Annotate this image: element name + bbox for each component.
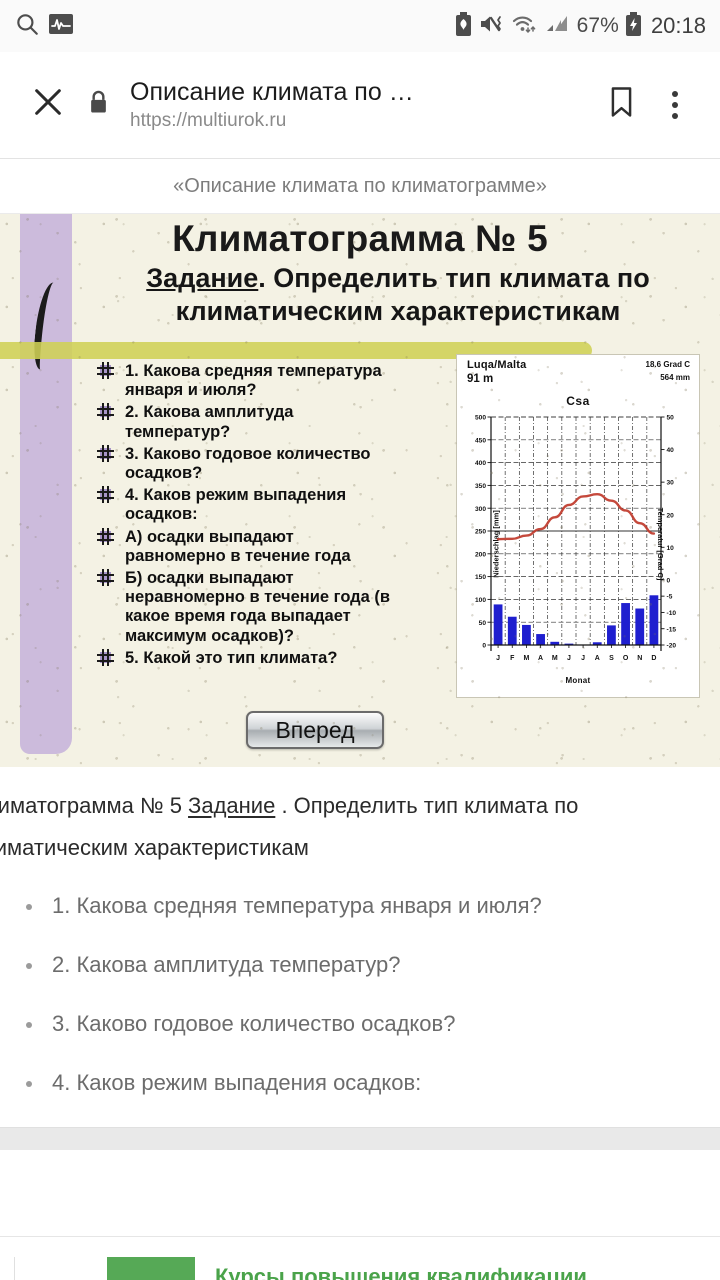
slide-question-item: 1. Какова средняя температура января и и… xyxy=(98,362,398,400)
svg-text:100: 100 xyxy=(475,597,486,604)
svg-text:0: 0 xyxy=(667,577,671,584)
svg-text:M: M xyxy=(552,655,558,662)
svg-text:40: 40 xyxy=(667,447,675,454)
svg-text:S: S xyxy=(609,655,614,662)
svg-text:0: 0 xyxy=(482,643,486,650)
list-item: 3. Каково годовое количество осадков? xyxy=(0,1009,720,1039)
svg-text:J: J xyxy=(496,655,500,662)
page-title: Описание климата по … xyxy=(130,77,590,107)
svg-text:-10: -10 xyxy=(667,610,677,617)
discount-badge: -60% xyxy=(107,1257,195,1280)
mute-vibrate-icon xyxy=(479,12,505,41)
hash-square-bullet-icon xyxy=(98,364,113,378)
svg-text:150: 150 xyxy=(475,574,486,581)
climate-chart-svg: 050100150200250300350400450500-20-15-10-… xyxy=(465,413,693,671)
svg-text:300: 300 xyxy=(475,506,486,513)
ad-left-rail xyxy=(14,1257,15,1280)
hash-square-bullet-icon xyxy=(98,651,113,665)
svg-text:250: 250 xyxy=(475,529,486,536)
hash-square-bullet-icon xyxy=(98,571,113,585)
overflow-menu-icon-dot3 xyxy=(672,113,678,119)
article-subheading: «Описание климата по климатограмме» xyxy=(0,159,720,213)
list-item: 2. Какова амплитуда температур? xyxy=(0,950,720,980)
address-bar[interactable]: Описание климата по … https://multiurok.… xyxy=(122,75,590,134)
slide-question-item: А) осадки выпадают равномерно в течение … xyxy=(98,528,398,566)
svg-text:-5: -5 xyxy=(667,594,673,601)
svg-text:50: 50 xyxy=(479,620,487,627)
hash-square-bullet-icon xyxy=(98,405,113,419)
lock-icon xyxy=(88,89,109,120)
overflow-menu-icon xyxy=(672,91,678,97)
article-lead-prefix: Климатограмма № 5 xyxy=(0,793,188,818)
status-bar-clock: 20:18 xyxy=(651,13,706,39)
hash-square-bullet-icon xyxy=(98,530,113,544)
svg-text:F: F xyxy=(510,655,515,662)
svg-text:J: J xyxy=(567,655,571,662)
svg-text:450: 450 xyxy=(475,437,486,444)
ad-banner[interactable]: -60% Курсы повышения квалификации xyxy=(0,1237,720,1280)
article-body: Климатограмма № 5 Задание . Определить т… xyxy=(0,767,720,1098)
svg-text:-20: -20 xyxy=(667,643,677,650)
list-item: 4. Каков режим выпадения осадков: xyxy=(0,1068,720,1098)
climate-diagram-header: Luqa/Malta 91 m 18.6 Grad C 564 mm xyxy=(457,355,699,393)
svg-text:D: D xyxy=(651,655,656,662)
slide-question-item: 2. Какова амплитуда температур? xyxy=(98,403,398,441)
svg-text:350: 350 xyxy=(475,483,486,490)
svg-text:A: A xyxy=(595,655,600,662)
article-lead-paragraph: Климатограмма № 5 Задание . Определить т… xyxy=(0,767,672,869)
climate-diagram: Luqa/Malta 91 m 18.6 Grad C 564 mm Csa N… xyxy=(456,354,700,698)
svg-text:-15: -15 xyxy=(667,626,677,633)
climate-station-altitude: 91 m xyxy=(467,372,691,386)
climate-mean-temperature: 18.6 Grad C xyxy=(646,360,690,369)
ad-title[interactable]: Курсы повышения квалификации xyxy=(215,1263,587,1280)
battery-percent-label: 67% xyxy=(577,14,619,38)
slide-image[interactable]: Климатограмма № 5 Задание. Определить ти… xyxy=(0,214,720,767)
forward-button[interactable]: Вперед xyxy=(246,711,384,749)
article-bullet-list: 1. Какова средняя температура января и и… xyxy=(0,891,720,1098)
scroll-shadow-strip xyxy=(0,1128,720,1150)
svg-text:50: 50 xyxy=(667,415,675,422)
activity-monitor-icon xyxy=(49,13,73,40)
battery-saver-icon xyxy=(455,12,472,41)
slide-question-text: Б) осадки выпадают неравномерно в течени… xyxy=(125,569,390,645)
site-security-indicator[interactable] xyxy=(74,89,122,120)
close-icon xyxy=(31,85,65,124)
svg-text:30: 30 xyxy=(667,480,675,487)
bookmark-icon xyxy=(608,86,635,123)
slide-subtitle: Задание. Определить тип климата по клима… xyxy=(90,262,706,328)
svg-text:400: 400 xyxy=(475,460,486,467)
slide-question-item: 5. Какой это тип климата? xyxy=(98,649,398,668)
bookmark-button[interactable] xyxy=(590,86,652,123)
status-bar-right-icons: 67% 20:18 xyxy=(455,12,706,41)
hash-square-bullet-icon xyxy=(98,488,113,502)
search-icon xyxy=(14,11,40,42)
svg-text:20: 20 xyxy=(667,512,675,519)
slide-question-text: А) осадки выпадают равномерно в течение … xyxy=(125,528,351,565)
svg-text:200: 200 xyxy=(475,551,486,558)
page-url: https://multiurok.ru xyxy=(130,108,590,134)
svg-text:O: O xyxy=(623,655,629,662)
battery-charging-icon xyxy=(626,12,641,41)
svg-text:M: M xyxy=(523,655,529,662)
climate-type-code: Csa xyxy=(457,394,699,408)
climate-annual-precipitation: 564 mm xyxy=(660,373,690,382)
slide-question-text: 2. Какова амплитуда температур? xyxy=(125,403,293,440)
status-bar-left-icons xyxy=(14,11,73,42)
svg-text:N: N xyxy=(637,655,642,662)
climate-plot-area: Niederschlag [mm] Temperatur [Grad C] 05… xyxy=(465,413,693,675)
svg-text:J: J xyxy=(581,655,585,662)
status-bar: 67% 20:18 xyxy=(0,0,720,52)
content-gap xyxy=(0,1150,720,1236)
climate-x-axis-label: Monat xyxy=(457,676,699,685)
slide-question-text: 1. Какова средняя температура января и и… xyxy=(125,362,382,399)
list-item: 1. Какова средняя температура января и и… xyxy=(0,891,720,921)
slide-question-text: 5. Какой это тип климата? xyxy=(125,649,337,667)
close-button[interactable] xyxy=(22,85,74,124)
svg-text:10: 10 xyxy=(667,545,675,552)
svg-text:A: A xyxy=(538,655,543,662)
slide-question-text: 3. Каково годовое количество осадков? xyxy=(125,445,370,482)
svg-text:500: 500 xyxy=(475,415,486,422)
wifi-icon xyxy=(512,12,539,41)
slide-question-item: 3. Каково годовое количество осадков? xyxy=(98,445,398,483)
slide-subtitle-line2: климатическим характеристикам xyxy=(176,296,621,326)
slide-subtitle-rest: . Определить тип климата по xyxy=(258,263,649,293)
article-lead-underlined: Задание xyxy=(188,793,275,818)
slide-question-item: 4. Каков режим выпадения осадков: xyxy=(98,486,398,524)
overflow-menu-button[interactable] xyxy=(652,91,698,119)
hash-square-bullet-icon xyxy=(98,447,113,461)
slide-question-list: 1. Какова средняя температура января и и… xyxy=(98,362,398,671)
cellular-signal-icon xyxy=(546,13,570,40)
slide-question-text: 4. Каков режим выпадения осадков: xyxy=(125,486,346,523)
browser-toolbar: Описание климата по … https://multiurok.… xyxy=(0,52,720,158)
article-subheading-text: «Описание климата по климатограмме» xyxy=(173,175,547,198)
slide-question-item: Б) осадки выпадают неравномерно в течени… xyxy=(98,569,398,646)
slide-subtitle-label: Задание xyxy=(146,263,258,293)
overflow-menu-icon-dot2 xyxy=(672,102,678,108)
slide-title: Климатограмма № 5 xyxy=(0,218,720,260)
